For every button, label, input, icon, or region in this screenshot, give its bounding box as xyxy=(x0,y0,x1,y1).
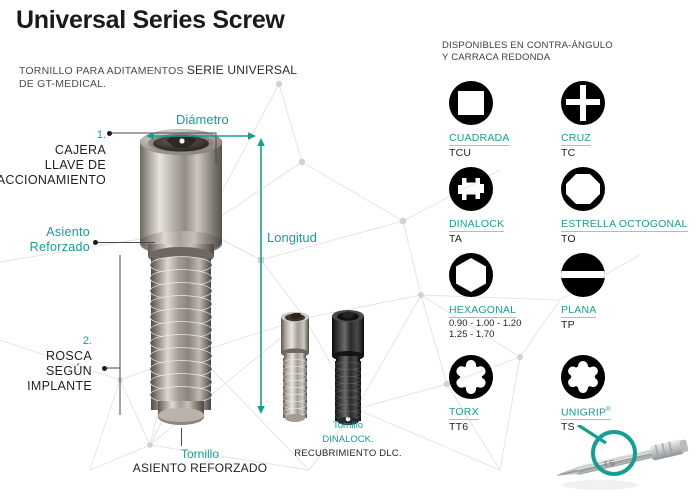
diameter-arrow xyxy=(146,130,256,142)
caption-2-leader xyxy=(348,402,349,418)
small-screw-silver-illustration xyxy=(271,308,319,430)
driver-code-cruz: TC xyxy=(561,147,605,160)
callout-3-leader xyxy=(104,255,122,415)
intro-block: TORNILLO PARA ADITAMENTOS SERIE UNIVERSA… xyxy=(19,64,297,91)
driver-cell-cuadrada[interactable]: CUADRADA TCU xyxy=(449,81,510,160)
length-label: Longitud xyxy=(267,230,317,245)
driver-name-cuadrada: CUADRADA xyxy=(449,132,510,146)
callout-3-line3: IMPLANTE xyxy=(27,379,92,394)
callout-asiento: Asiento Reforzado xyxy=(30,225,90,255)
callout-1-line2: LLAVE DE xyxy=(0,158,106,173)
callout-2-dot xyxy=(93,240,98,245)
driver-code-plana: TP xyxy=(561,319,605,332)
driver-cell-unigrip[interactable]: UNIGRIP® TS xyxy=(561,355,611,434)
driver-code-cuadrada: TCU xyxy=(449,147,510,160)
callout-3-line1: ROSCA xyxy=(27,349,92,364)
driver-cell-plana[interactable]: PLANA TP xyxy=(561,253,605,332)
intro-line2: DE GT-MEDICAL. xyxy=(19,78,297,91)
intro-line1-light: TORNILLO PARA ADITAMENTOS xyxy=(19,65,184,77)
callout-cajera: 1. CAJERA LLAVE DE ACCIONAMIENTO xyxy=(0,126,106,188)
driver-name-estrella: ESTRELLA OCTOGONAL xyxy=(561,218,688,232)
driver-name-unigrip-text: UNIGRIP xyxy=(561,406,606,418)
hexagon-drive-icon xyxy=(449,253,493,297)
driver-cell-dinalock[interactable]: DINALOCK TA xyxy=(449,167,504,246)
unigrip-drive-icon xyxy=(561,355,605,399)
cross-drive-icon xyxy=(561,81,605,125)
driver-code-estrella: TO xyxy=(561,233,688,246)
svg-text:TS: TS xyxy=(603,458,617,470)
registered-mark-icon: ® xyxy=(606,407,611,413)
callout-2-leader xyxy=(97,242,155,243)
driver-name-torx: TORX xyxy=(449,406,479,420)
flat-drive-icon xyxy=(561,253,605,297)
callout-1-line3: ACCIONAMIENTO xyxy=(0,173,106,188)
driver-cell-cruz[interactable]: CRUZ TC xyxy=(561,81,605,160)
page-title: Universal Series Screw xyxy=(16,6,285,35)
poster-canvas: Universal Series Screw TORNILLO PARA ADI… xyxy=(0,0,700,500)
driver-cell-estrella-octogonal[interactable]: ESTRELLA OCTOGONAL TO xyxy=(561,167,688,246)
driver-name-hexagonal: HEXAGONAL xyxy=(449,304,516,318)
caption-2-dark: RECUBRIMIENTO DLC. xyxy=(268,447,428,461)
callout-1-dot xyxy=(107,131,112,136)
driver-code-dinalock: TA xyxy=(449,233,504,246)
diameter-label: Diámetro xyxy=(176,112,229,127)
driver-sub-hexagonal-1: 0.90 - 1.00 - 1.20 xyxy=(449,318,521,329)
caption-2-teal: Tornillo xyxy=(268,419,428,433)
driver-name-dinalock: DINALOCK xyxy=(449,218,504,232)
driver-tool-illustration: TS xyxy=(548,425,698,495)
square-drive-icon xyxy=(449,81,493,125)
callout-1-number: 1. xyxy=(97,129,106,141)
callout-2-line2: Reforzado xyxy=(30,240,90,255)
panel-heading: DISPONIBLES EN CONTRA-ÁNGULO Y CARRACA R… xyxy=(442,40,613,63)
driver-name-unigrip: UNIGRIP® xyxy=(561,404,611,421)
callout-rosca: 2. ROSCA SEGÚN IMPLANTE xyxy=(27,334,92,394)
caption-1-dark: ASIENTO REFORZADO xyxy=(100,461,300,475)
torx-drive-icon xyxy=(449,355,493,399)
length-arrow xyxy=(255,138,267,414)
driver-sub-hexagonal-2: 1.25 - 1.70 xyxy=(449,329,521,340)
callout-2-line1: Asiento xyxy=(30,225,90,240)
driver-code-torx: TT6 xyxy=(449,421,493,434)
callout-1-line1: CAJERA xyxy=(0,143,106,158)
panel-heading-line2: Y CARRACA REDONDA xyxy=(442,52,613,64)
callout-3-number: 2. xyxy=(27,334,92,349)
caption-2-teal2: DINALOCK. xyxy=(268,433,428,447)
caption-1-leader xyxy=(181,428,182,446)
driver-name-cruz: CRUZ xyxy=(561,132,591,146)
driver-cell-torx[interactable]: TORX TT6 xyxy=(449,355,493,434)
driver-cell-hexagonal[interactable]: HEXAGONAL 0.90 - 1.00 - 1.20 1.25 - 1.70 xyxy=(449,253,521,340)
octagon-drive-icon xyxy=(561,167,605,211)
driver-name-plana: PLANA xyxy=(561,304,596,318)
callout-3-line2: SEGÚN xyxy=(27,364,92,379)
intro-line1-strong: SERIE UNIVERSAL xyxy=(187,63,297,77)
dinalock-drive-icon xyxy=(449,167,493,211)
caption-dinalock: Tornillo DINALOCK. RECUBRIMIENTO DLC. xyxy=(268,419,428,461)
callout-3-dot xyxy=(102,366,107,371)
panel-heading-line1: DISPONIBLES EN CONTRA-ÁNGULO xyxy=(442,40,613,52)
